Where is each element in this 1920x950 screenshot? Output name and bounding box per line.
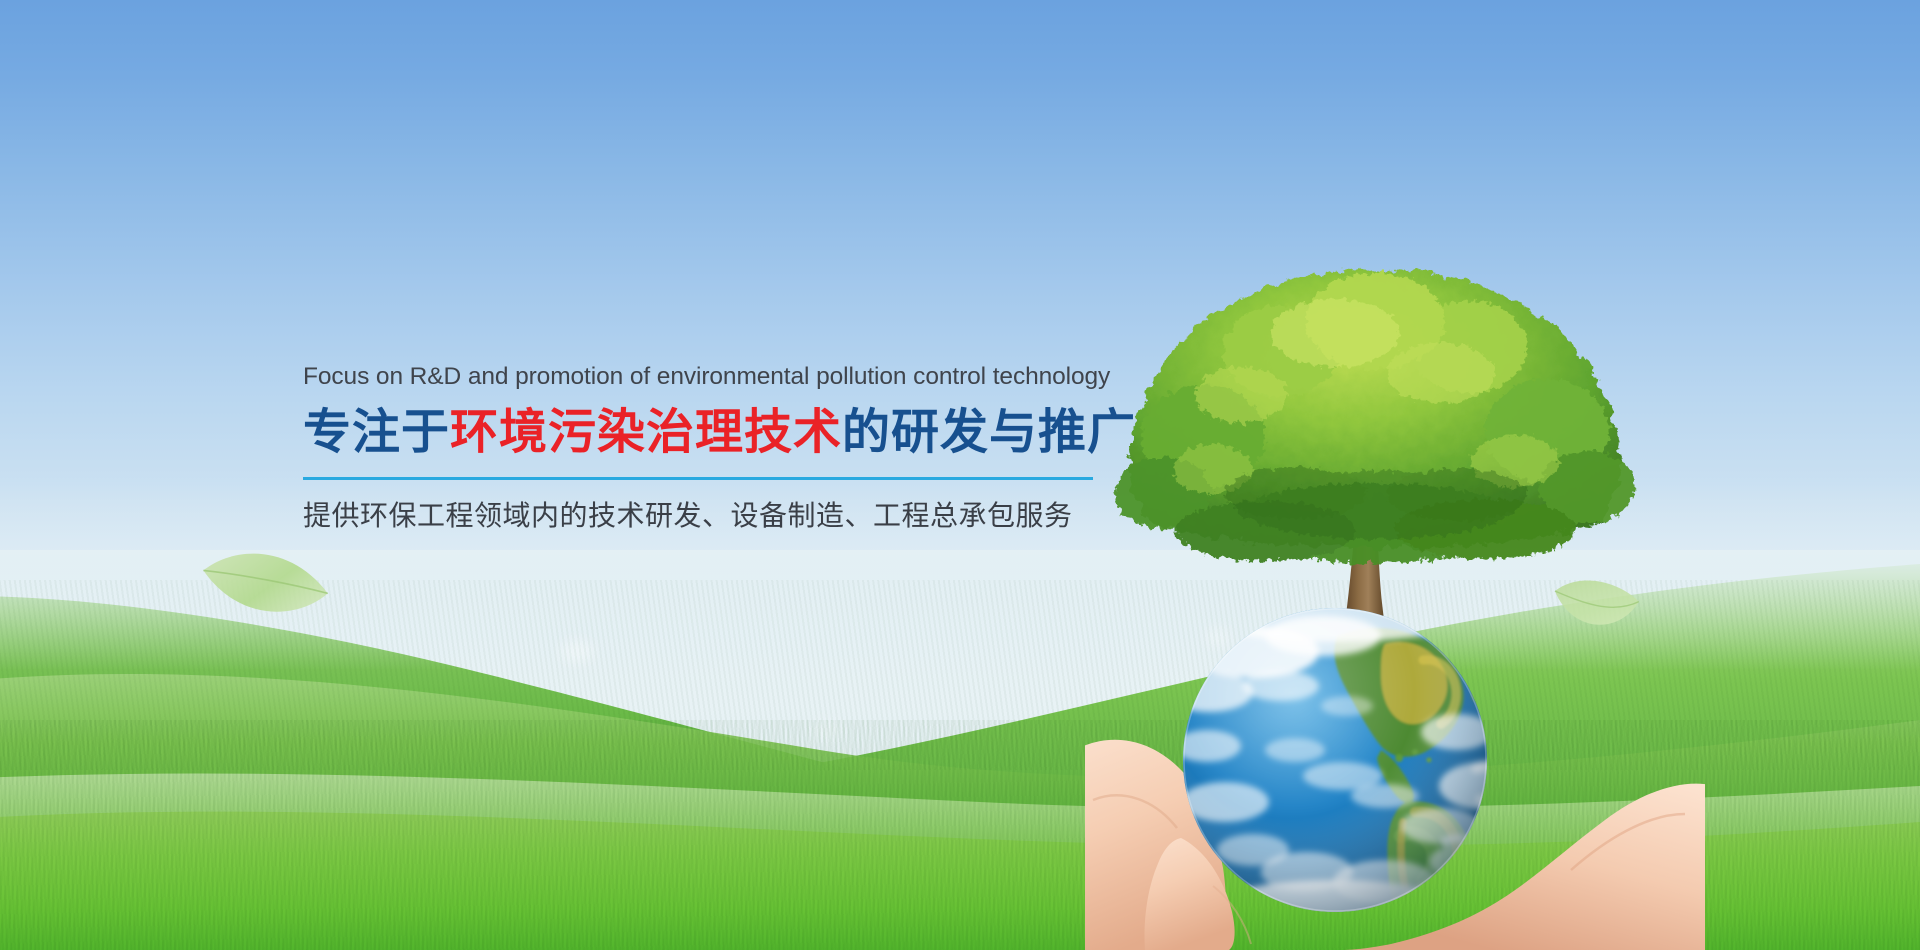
hero-banner: Focus on R&D and promotion of environmen… <box>0 0 1920 950</box>
headline-part-1: 专注于 <box>303 404 450 460</box>
sub-tagline: 提供环保工程领域内的技术研发、设备制造、工程总承包服务 <box>303 498 1103 534</box>
main-headline: 专注于环境污染治理技术的研发与推广 <box>303 404 1103 461</box>
headline-part-3: 的研发与推广 <box>842 404 1136 460</box>
banner-copy: Focus on R&D and promotion of environmen… <box>303 362 1103 535</box>
headline-highlight: 环境污染治理技术 <box>450 404 842 460</box>
headline-divider <box>303 477 1093 480</box>
english-tagline: Focus on R&D and promotion of environmen… <box>303 362 1103 393</box>
globe-in-hands-graphic <box>1085 600 1705 950</box>
